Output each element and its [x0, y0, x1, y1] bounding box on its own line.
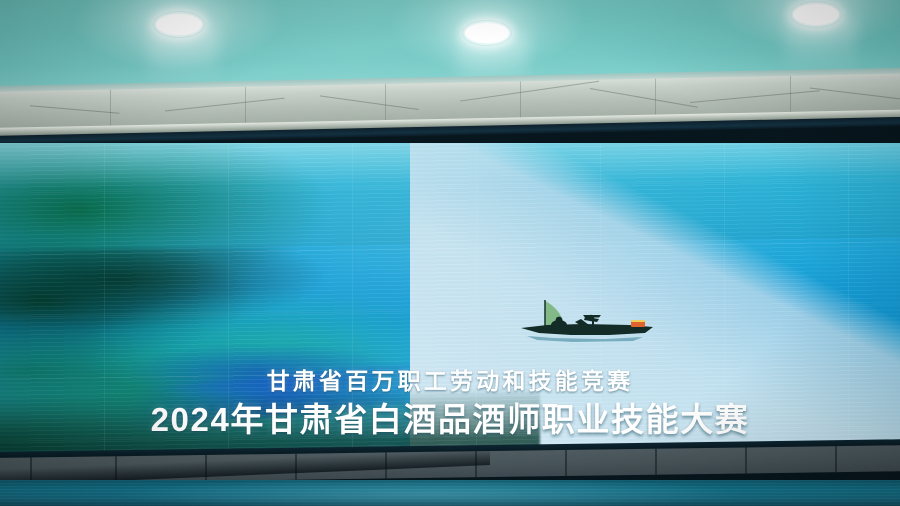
sailing-boat-silhouette: [513, 295, 663, 343]
downlight-right-icon: [793, 4, 839, 25]
downlight-left-icon: [156, 14, 202, 35]
downlight-center-icon: [465, 23, 509, 43]
photo-scene: 甘肃省百万职工劳动和技能竞赛 2024年甘肃省白酒品酒师职业技能大赛 开 幕 式…: [0, 0, 900, 506]
event-subtitle: 甘肃省百万职工劳动和技能竞赛: [0, 362, 900, 396]
floor-reflection: [0, 480, 900, 506]
led-display-wall: 甘肃省百万职工劳动和技能竞赛 2024年甘肃省白酒品酒师职业技能大赛 开 幕 式…: [0, 143, 900, 458]
event-main-title: 2024年甘肃省白酒品酒师职业技能大赛: [0, 393, 900, 441]
